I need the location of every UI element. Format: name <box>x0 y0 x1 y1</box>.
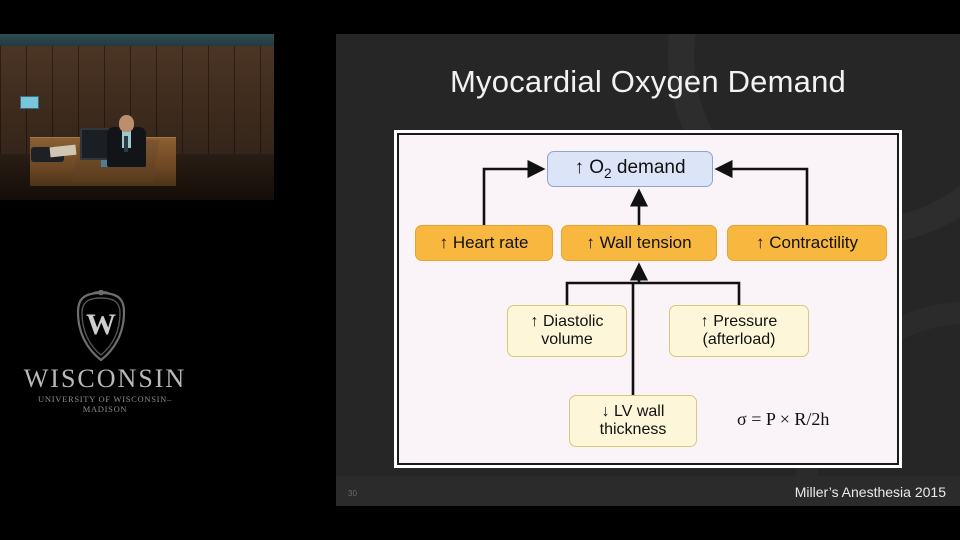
slide-title: Myocardial Oxygen Demand <box>336 64 960 100</box>
diagram-canvas: σ = P × R/2h ↑ O2 demand↑ Heart rate↑ Wa… <box>397 133 899 465</box>
left-panel: Speaker in dark suit standing at wooden … <box>0 0 336 540</box>
diagram-node-pr: ↑ Pressure(afterload) <box>669 305 809 357</box>
wall-stress-formula: σ = P × R/2h <box>737 409 829 430</box>
svg-text:W: W <box>86 308 116 341</box>
diagram-node-label: ↑ Wall tension <box>586 233 691 252</box>
slide-footer: 30 Miller’s Anesthesia 2015 <box>336 476 960 506</box>
diagram-panel: σ = P × R/2h ↑ O2 demand↑ Heart rate↑ Wa… <box>394 130 902 468</box>
diagram-node-label: ↑ Heart rate <box>440 233 529 252</box>
diagram-node-hr: ↑ Heart rate <box>415 225 553 261</box>
slide-number: 30 <box>348 489 357 498</box>
diagram-node-label: ↓ LV wallthickness <box>600 403 667 439</box>
university-wordmark: WISCONSIN <box>20 366 190 392</box>
diagram-node-wt: ↑ Wall tension <box>561 225 717 261</box>
diagram-node-label: ↑ Diastolicvolume <box>531 313 604 349</box>
diagram-node-o2: ↑ O2 demand <box>547 151 713 187</box>
university-logo: W WISCONSIN UNIVERSITY OF WISCONSIN–MADI… <box>20 290 190 410</box>
uw-crest-icon: W <box>70 290 132 364</box>
diagram-node-ct: ↑ Contractility <box>727 225 887 261</box>
diagram-node-dv: ↑ Diastolicvolume <box>507 305 627 357</box>
speaker-head <box>119 115 134 132</box>
video-scene <box>0 34 274 200</box>
diagram-node-lv: ↓ LV wallthickness <box>569 395 697 447</box>
lecture-player: Speaker in dark suit standing at wooden … <box>0 0 960 540</box>
lecture-video[interactable]: Speaker in dark suit standing at wooden … <box>0 34 274 200</box>
wall-sign-icon <box>20 96 39 109</box>
presentation-slide[interactable]: Myocardial Oxygen Demand σ = P × R/2h ↑ … <box>336 34 960 506</box>
speaker-tie <box>124 136 128 152</box>
diagram-node-label: ↑ Pressure(afterload) <box>701 313 777 349</box>
university-subtitle: UNIVERSITY OF WISCONSIN–MADISON <box>20 394 190 414</box>
diagram-node-label: ↑ O2 demand <box>574 157 685 181</box>
diagram-node-label: ↑ Contractility <box>756 233 858 252</box>
slide-source-citation: Miller’s Anesthesia 2015 <box>795 484 946 500</box>
